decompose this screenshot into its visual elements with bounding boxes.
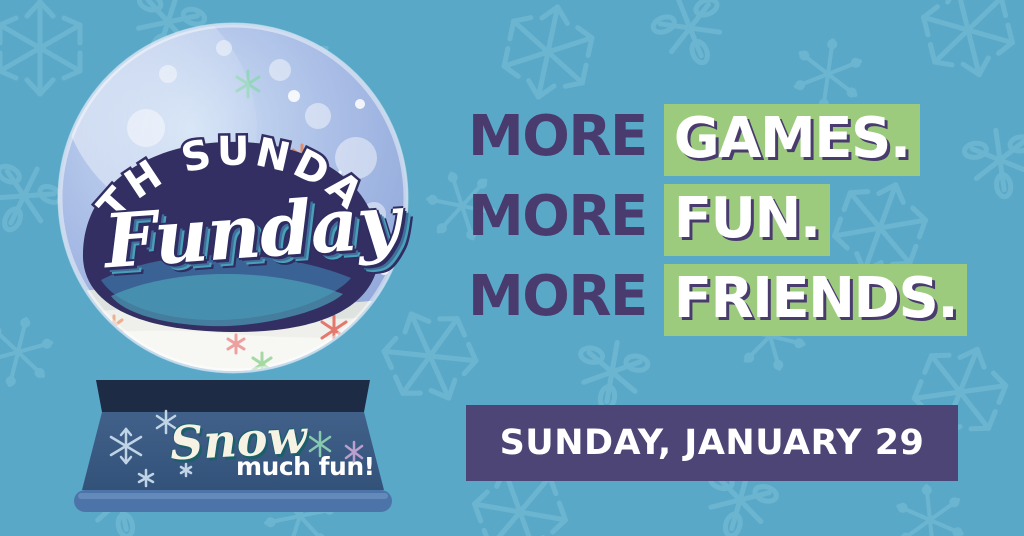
headline-prefix-3: MORE [468, 264, 664, 330]
headline-highlight-friends: FRIENDS. [664, 264, 967, 336]
date-banner: SUNDAY, JANUARY 29 [466, 405, 958, 481]
headline-block: MORE GAMES. MORE FUN. MORE FRIENDS. [468, 104, 998, 344]
headline-prefix-1: MORE [468, 104, 664, 170]
headline-row-fun: MORE FUN. [468, 184, 998, 258]
headline-highlight-games: GAMES. [664, 104, 920, 176]
snow-globe-illustration: 5TH SUNDAY Funday Snow much fun! [18, 8, 448, 528]
headline-highlight-fun: FUN. [664, 184, 830, 256]
date-text: SUNDAY, JANUARY 29 [500, 423, 925, 463]
headline-row-games: MORE GAMES. [468, 104, 998, 178]
headline-row-friends: MORE FRIENDS. [468, 264, 998, 338]
headline-prefix-2: MORE [468, 184, 664, 250]
snow-globe-graphic [18, 8, 448, 528]
promo-banner: 5TH SUNDAY Funday Snow much fun! MORE GA… [0, 0, 1024, 536]
